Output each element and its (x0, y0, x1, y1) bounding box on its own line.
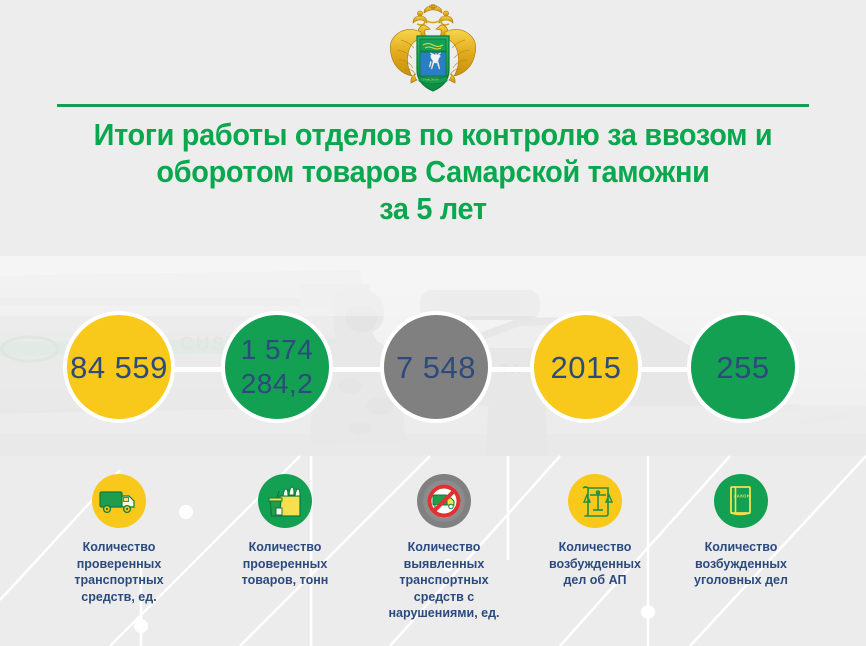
stat-circle-checked-vehicles[interactable]: 84 559 (63, 311, 175, 423)
emblem: ТАМОЖНЯ (381, 4, 485, 98)
green-truck-icon (92, 474, 146, 528)
scales-of-justice-icon (568, 474, 622, 528)
legend-item-violating-vehicles[interactable]: Количество выявленных транспортных средс… (368, 474, 520, 622)
stat-circles-row: 84 559 1 574 284,2 7 548 2015 255 (0, 256, 866, 456)
legend-item-checked-goods[interactable]: Количество проверенных товаров, тонн (209, 474, 361, 589)
legend-label: Количество проверенных товаров, тонн (242, 539, 329, 589)
stat-value-line-1: 1 574 (241, 333, 314, 367)
title-divider-rule (57, 104, 809, 107)
page-title: Итоги работы отделов по контролю за ввоз… (30, 116, 835, 227)
stat-circle-checked-goods-tons[interactable]: 1 574 284,2 (221, 311, 333, 423)
legend-label: Количество возбужденных уголовных дел (694, 539, 788, 589)
legend-item-administrative-cases[interactable]: Количество возбужденных дел об АП (519, 474, 671, 589)
title-line-2: оборотом товаров Самарской таможни (30, 153, 835, 190)
legend-label: Количество возбужденных дел об АП (549, 539, 641, 589)
legend-item-checked-vehicles[interactable]: Количество проверенных транспортных сред… (43, 474, 195, 605)
legend-item-criminal-cases[interactable]: ЗАКОН Количество возбужденных уголовных … (665, 474, 817, 589)
title-line-1: Итоги работы отделов по контролю за ввоз… (30, 116, 835, 153)
law-book-spine-text: ЗАКОН (734, 494, 751, 499)
stat-circle-administrative-cases[interactable]: 2015 (530, 311, 642, 423)
infographic-root: ТАМОЖНЯ Итоги работы отделов по контролю… (0, 0, 866, 646)
title-line-3: за 5 лет (30, 190, 835, 227)
legend-label: Количество выявленных транспортных средс… (388, 539, 499, 622)
svg-text:ТАМОЖНЯ: ТАМОЖНЯ (423, 77, 439, 81)
stat-circle-criminal-cases[interactable]: 255 (687, 311, 799, 423)
legend-label: Количество проверенных транспортных сред… (74, 539, 163, 605)
stat-value-line-1: 84 559 (70, 351, 168, 384)
header: ТАМОЖНЯ Итоги работы отделов по контролю… (0, 0, 866, 256)
stat-value-line-1: 7 548 (396, 351, 476, 384)
law-book-icon: ЗАКОН (714, 474, 768, 528)
legend-items: Количество проверенных транспортных сред… (0, 456, 866, 646)
stat-circle-violating-vehicles[interactable]: 7 548 (380, 311, 492, 423)
stat-value-line-2: 284,2 (241, 367, 314, 401)
prohibition-truck-icon (417, 474, 471, 528)
stat-value-line-1: 255 (716, 351, 769, 384)
grocery-bag-icon (258, 474, 312, 528)
stat-value-line-1: 2015 (551, 351, 622, 384)
